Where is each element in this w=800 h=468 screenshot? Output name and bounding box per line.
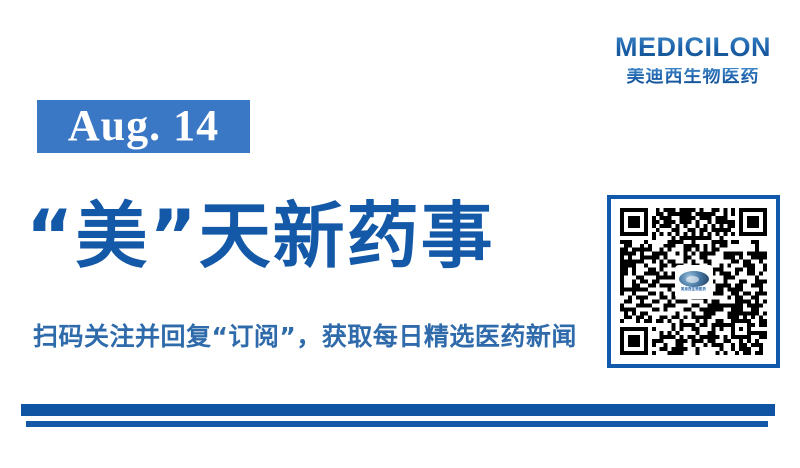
subtitle: 扫码关注并回复“订阅”，获取每日精选医药新闻 [33,322,603,352]
brand-chinese-name: 美迪西生物医药 [598,68,788,86]
date-badge: Aug. 14 [37,100,250,153]
headline-text: “美”天新药事 [26,200,495,272]
headline: “美”天新药事 [26,186,596,286]
poster-canvas: MEDICILON 美迪西生物医药 Aug. 14 “美”天新药事 扫码关注并回… [0,0,800,468]
divider-rule-thin [26,421,768,427]
brand-wordmark: MEDICILON [598,34,788,61]
qr-code-canvas-wrap: 美迪西生物医药 [620,208,767,355]
divider-rule-thick [21,404,775,416]
brand-logo: MEDICILON 美迪西生物医药 [598,34,788,86]
qr-logo-caption: 美迪西生物医药 [681,288,706,291]
date-badge-label: Aug. 14 [68,104,219,148]
qr-center-logo: 美迪西生物医药 [675,265,713,299]
subtitle-text: 扫码关注并回复“订阅”，获取每日精选医药新闻 [33,322,577,351]
qr-code[interactable]: 美迪西生物医药 [607,195,780,368]
qr-logo-emblem-icon [679,271,709,287]
